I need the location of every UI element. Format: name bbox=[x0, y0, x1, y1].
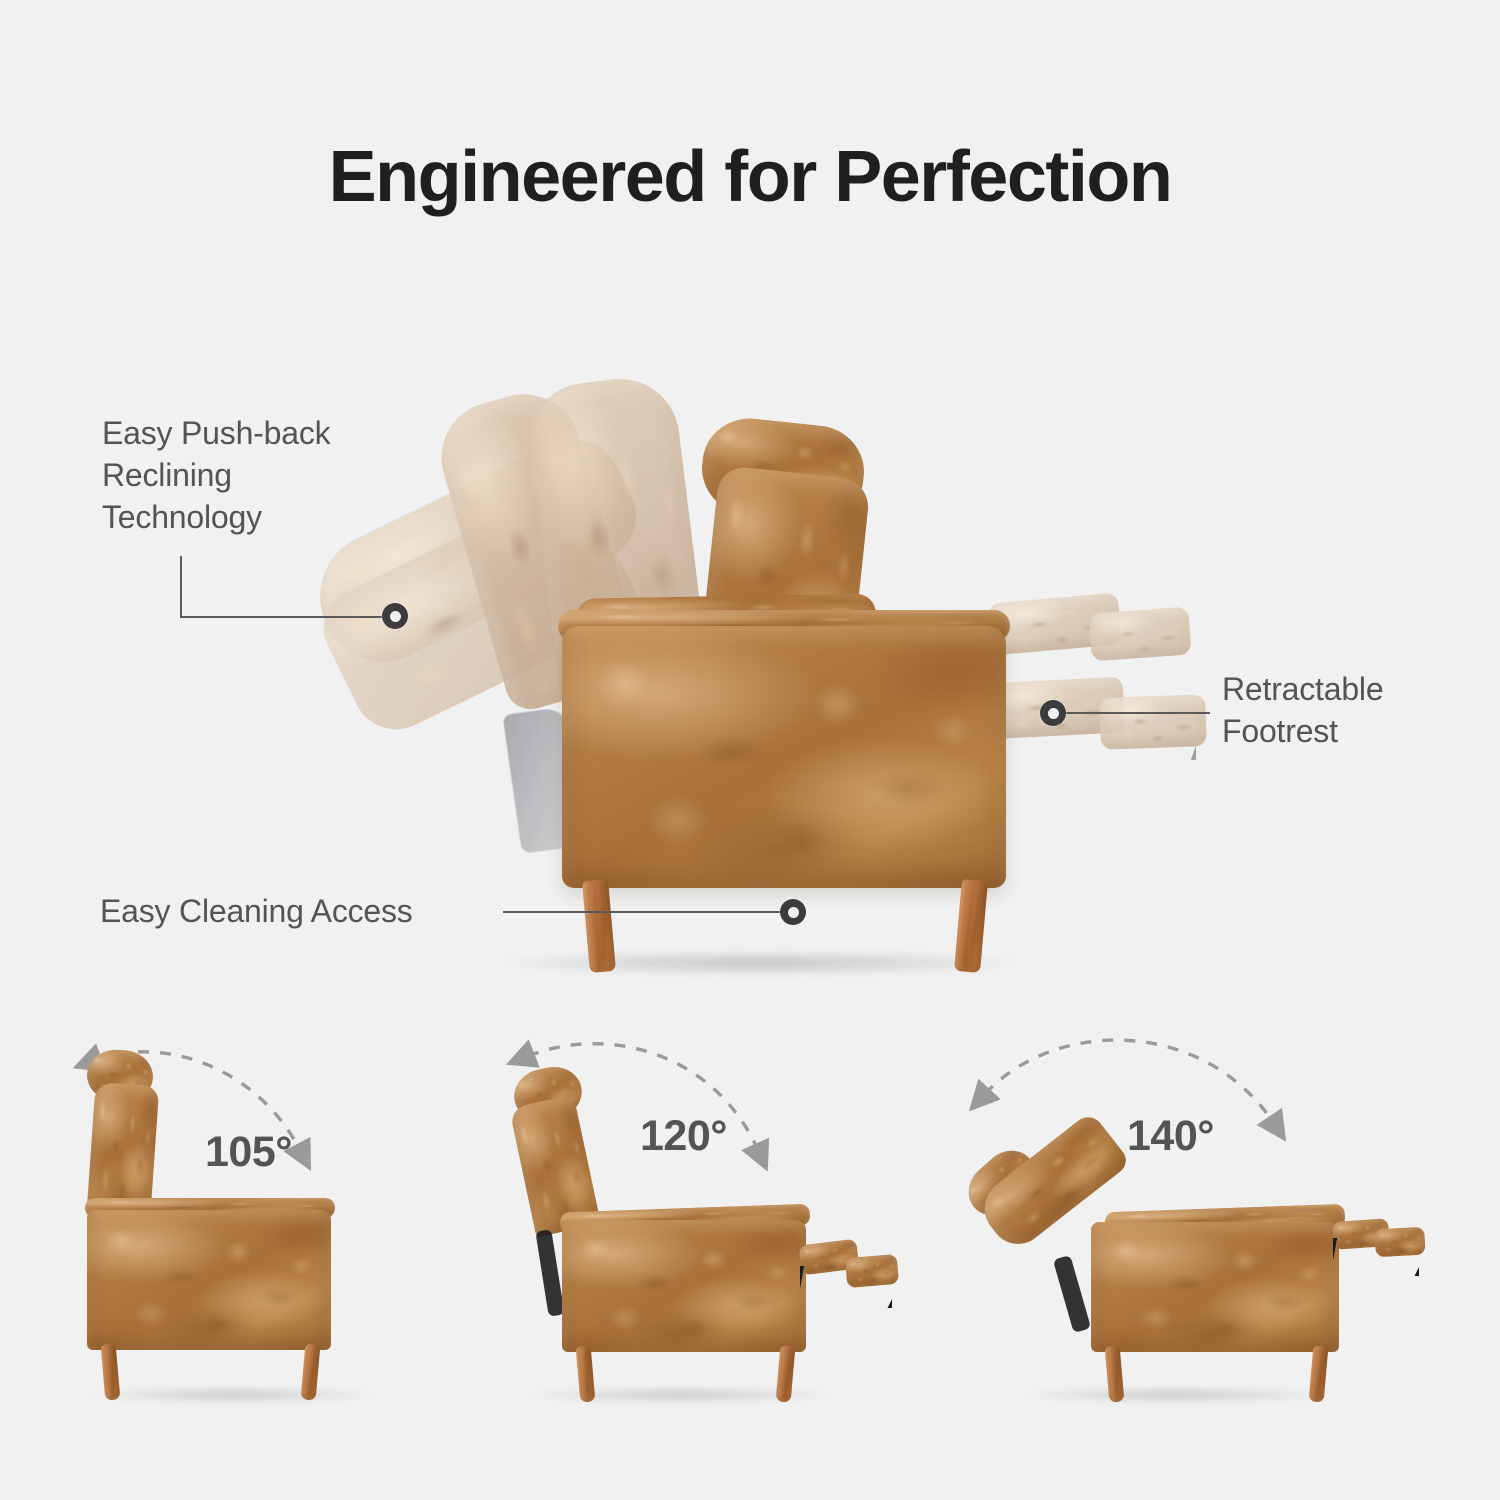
mini-leg-back-140 bbox=[1309, 1345, 1329, 1402]
mini-footrest-mechanism-140 bbox=[1333, 1238, 1419, 1276]
mini-body-105 bbox=[87, 1210, 331, 1350]
callout-leader-recline-vertical bbox=[180, 556, 182, 618]
ghost-footrest-lower-outer bbox=[1099, 694, 1207, 750]
callout-leader-cleaning bbox=[503, 911, 793, 913]
hero-floor-shadow bbox=[500, 950, 1020, 976]
recline-angle-panel-140: 140° bbox=[955, 1030, 1425, 1450]
callout-label-reclining-technology: Easy Push-back Reclining Technology bbox=[102, 412, 422, 539]
callout-label-easy-cleaning-access: Easy Cleaning Access bbox=[100, 890, 520, 932]
recline-angle-panel-120: 120° bbox=[500, 1030, 970, 1450]
mini-body-120 bbox=[562, 1220, 806, 1352]
mini-backrest-105 bbox=[87, 1082, 160, 1216]
callout-marker-footrest[interactable] bbox=[1040, 700, 1066, 726]
recline-angle-row: 105° bbox=[0, 1030, 1500, 1450]
mini-body-140 bbox=[1091, 1222, 1339, 1352]
angle-value-140: 140° bbox=[1127, 1112, 1214, 1161]
page-title: Engineered for Perfection bbox=[0, 138, 1500, 217]
mini-mechanism-120 bbox=[535, 1229, 564, 1316]
mini-shadow-140 bbox=[1025, 1386, 1325, 1404]
callout-label-retractable-footrest: Retractable Footrest bbox=[1222, 668, 1482, 752]
angle-value-105: 105° bbox=[205, 1128, 292, 1177]
callout-leader-recline-horizontal bbox=[180, 616, 388, 618]
angle-value-120: 120° bbox=[640, 1112, 727, 1161]
callout-leader-footrest bbox=[1062, 712, 1210, 714]
mini-mechanism-140 bbox=[1053, 1255, 1091, 1333]
callout-marker-recline[interactable] bbox=[382, 603, 408, 629]
mini-footrest-mechanism-120 bbox=[800, 1266, 892, 1308]
callout-marker-cleaning[interactable] bbox=[780, 899, 806, 925]
mini-shadow-105 bbox=[93, 1386, 373, 1404]
infographic-canvas: Engineered for Perfection Easy Push-back… bbox=[0, 0, 1500, 1500]
recline-angle-panel-105: 105° bbox=[55, 1030, 525, 1450]
hero-chair-body bbox=[562, 626, 1006, 888]
